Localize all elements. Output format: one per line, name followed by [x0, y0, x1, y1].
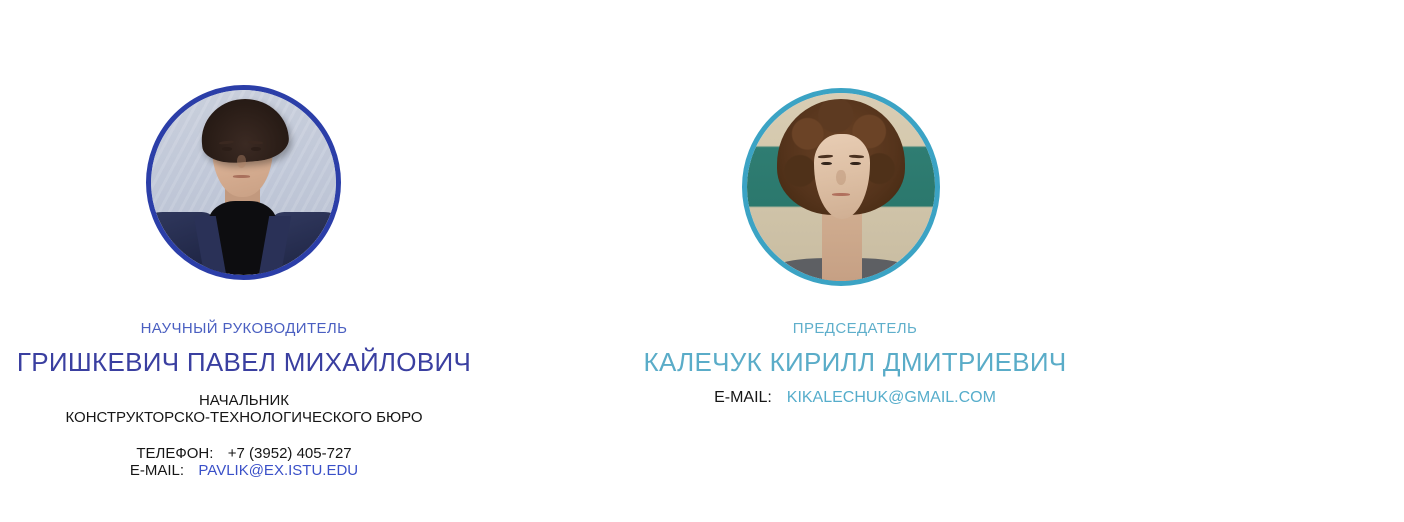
eye-left — [222, 147, 232, 151]
portrait-image-chairman — [747, 93, 935, 281]
role-label-chairman: ПРЕДСЕДАТЕЛЬ — [565, 320, 1145, 337]
phone-value: +7 (3952) 405-727 — [228, 445, 352, 462]
position-line-1: НАЧАЛЬНИК — [0, 392, 488, 409]
contacts-supervisor: ТЕЛЕФОН: +7 (3952) 405-727 E-MAIL: PAVLI… — [0, 445, 488, 479]
chairman-text-block: ПРЕДСЕДАТЕЛЬ КАЛЕЧУК КИРИЛЛ ДМИТРИЕВИЧ E… — [565, 320, 1145, 407]
email-link-chairman[interactable]: KIKALECHUK@GMAIL.COM — [787, 389, 996, 406]
avatar-chairman — [742, 88, 940, 286]
mouth — [233, 175, 250, 178]
person-name-supervisor: ГРИШКЕВИЧ ПАВЕЛ МИХАЙЛОВИЧ — [0, 347, 488, 378]
phone-label: ТЕЛЕФОН: — [136, 445, 213, 462]
neck — [822, 211, 861, 281]
email-label: E-MAIL: — [714, 389, 772, 406]
mouth — [832, 193, 851, 196]
email-row: E-MAIL: PAVLIK@EX.ISTU.EDU — [0, 462, 488, 479]
position-line-2: КОНСТРУКТОРСКО-ТЕХНОЛОГИЧЕСКОГО БЮРО — [0, 409, 488, 426]
nose — [836, 170, 845, 185]
email-link-supervisor[interactable]: PAVLIK@EX.ISTU.EDU — [198, 462, 358, 479]
role-label-supervisor: НАУЧНЫЙ РУКОВОДИТЕЛЬ — [0, 320, 488, 337]
phone-row: ТЕЛЕФОН: +7 (3952) 405-727 — [0, 445, 488, 462]
portrait-image-supervisor — [151, 90, 336, 275]
person-name-chairman: КАЛЕЧУК КИРИЛЛ ДМИТРИЕВИЧ — [565, 347, 1145, 378]
contacts-chairman: E-MAIL: KIKALECHUK@GMAIL.COM — [565, 389, 1145, 407]
supervisor-text-block: НАУЧНЫЙ РУКОВОДИТЕЛЬ ГРИШКЕВИЧ ПАВЕЛ МИХ… — [0, 320, 488, 479]
email-label: E-MAIL: — [130, 462, 184, 479]
avatar-supervisor — [146, 85, 341, 280]
nose — [237, 155, 246, 168]
eye-right — [251, 147, 261, 151]
position-supervisor: НАЧАЛЬНИК КОНСТРУКТОРСКО-ТЕХНОЛОГИЧЕСКОГ… — [0, 392, 488, 426]
